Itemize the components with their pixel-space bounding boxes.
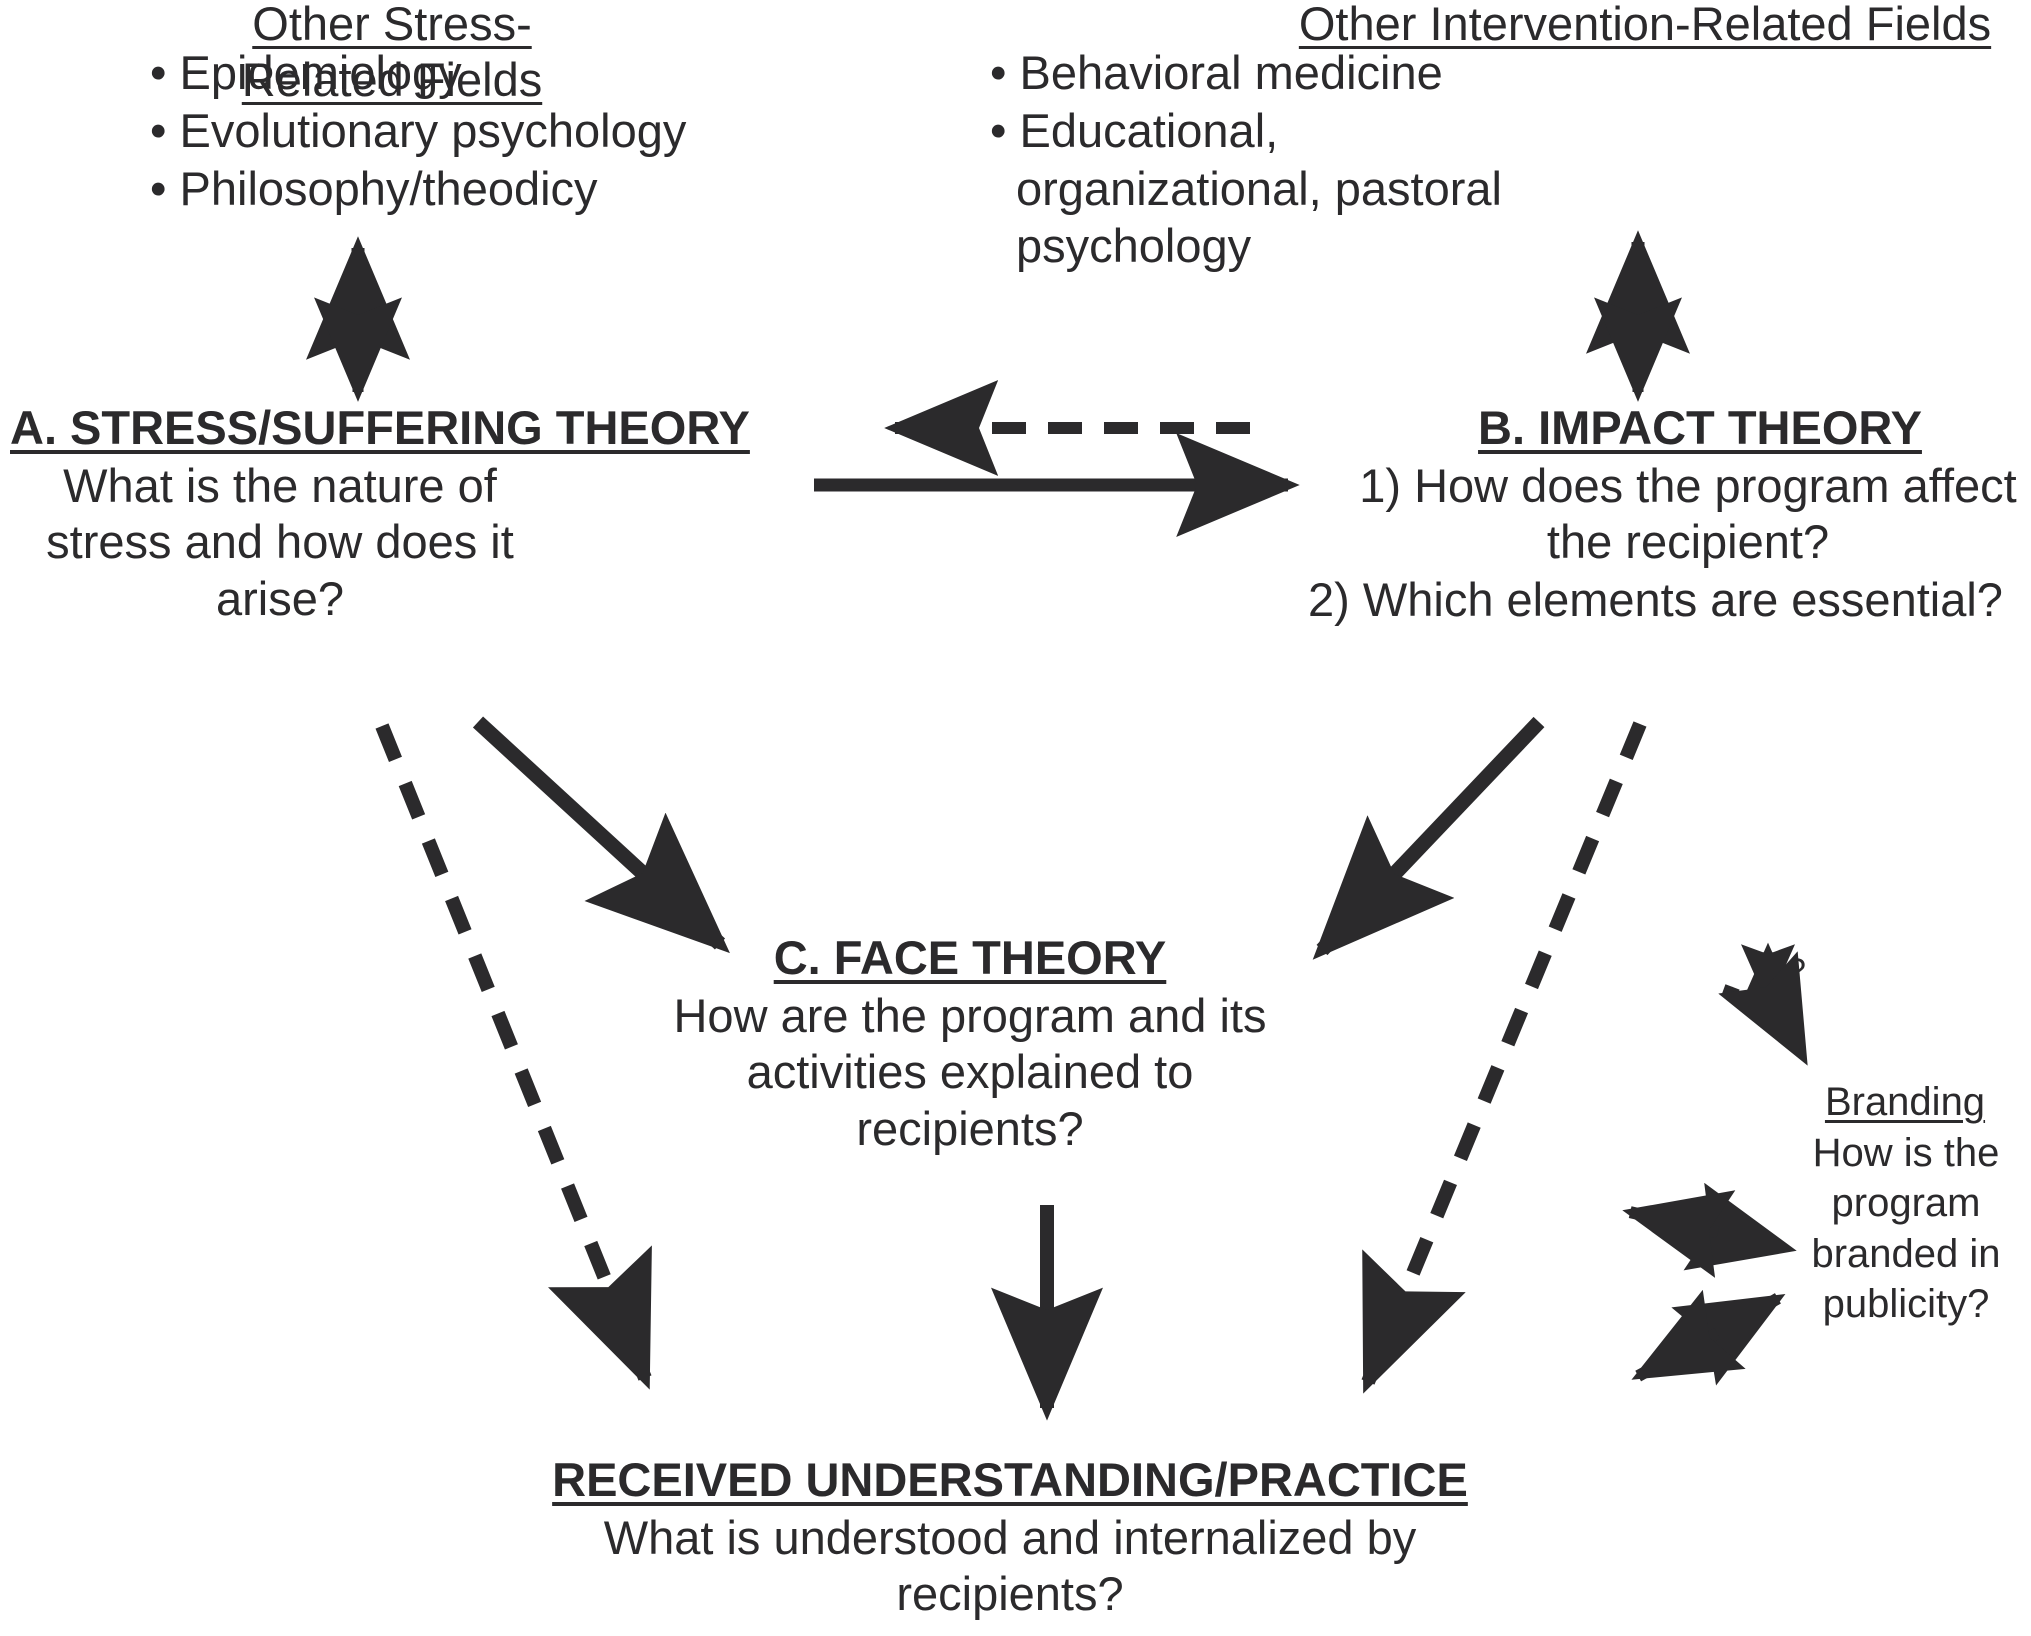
- list-item: • Educational, organizational, pastoral …: [990, 102, 1510, 275]
- connector-box-b-to-box-c: [1322, 722, 1539, 950]
- box-a-body: What is the nature of stress and how doe…: [0, 458, 560, 627]
- connector-branding-curve-down: [1729, 992, 1802, 1055]
- branding-body: How is the program branded in publicity?: [1795, 1128, 2017, 1330]
- box-b-heading: B. IMPACT THEORY: [1380, 400, 2020, 456]
- box-c-heading: C. FACE THEORY: [700, 930, 1240, 986]
- left-fields-list: • Epidemiology • Evolutionary psychology…: [150, 44, 770, 217]
- connector-box-b-to-received: [1368, 724, 1640, 1382]
- received-heading: RECEIVED UNDERSTANDING/PRACTICE: [480, 1452, 1540, 1508]
- box-a-heading: A. STRESS/SUFFERING THEORY: [10, 400, 750, 456]
- list-item: • Epidemiology: [150, 44, 770, 102]
- list-item: • Philosophy/theodicy: [150, 160, 770, 218]
- diagram-canvas: Other Stress-Related Fields • Epidemiolo…: [0, 0, 2031, 1636]
- list-item: • Evolutionary psychology: [150, 102, 770, 160]
- branding-question-mark: ?: [1787, 952, 1806, 991]
- box-b-line-1: 1) How does the program affect the recip…: [1345, 458, 2031, 571]
- connector-branding-link-lower: [1642, 1300, 1775, 1374]
- received-body: What is understood and internalized by r…: [500, 1510, 1520, 1623]
- branding-heading: Branding: [1805, 1078, 2005, 1126]
- box-b-line-2: 2) Which elements are essential?: [1280, 572, 2031, 628]
- list-item: • Behavioral medicine: [990, 44, 1510, 102]
- right-fields-list: • Behavioral medicine • Educational, org…: [990, 44, 1510, 275]
- connector-branding-link-upper: [1634, 1213, 1785, 1248]
- box-c-body: How are the program and its activities e…: [660, 988, 1280, 1157]
- connector-box-a-to-received: [382, 726, 645, 1378]
- connector-box-a-to-box-c: [478, 722, 720, 944]
